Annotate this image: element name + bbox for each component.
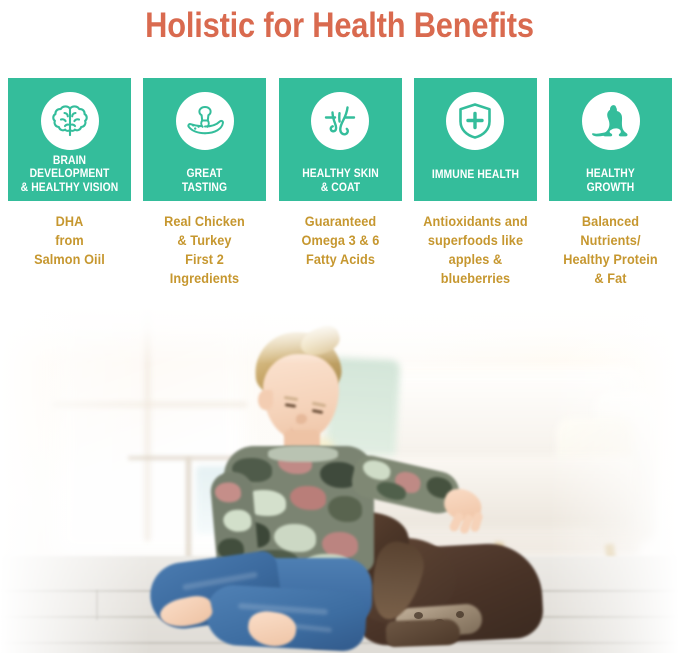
benefit-tile-label: BRAIN DEVELOPMENT & HEALTHY VISION: [14, 155, 125, 196]
icon-circle: [41, 92, 99, 150]
benefit-caption-great-tasting: Real Chicken & Turkey First 2 Ingredient…: [147, 212, 263, 288]
benefit-tile-healthy-skin-coat[interactable]: HEALTHY SKIN & COAT: [279, 78, 402, 201]
benefit-tile-healthy-growth[interactable]: HEALTHY GROWTH: [549, 78, 672, 201]
benefit-caption-brain-development: DHA from Salmon Oiil: [12, 212, 128, 288]
benefit-tile-brain-development[interactable]: BRAIN DEVELOPMENT & HEALTHY VISION: [8, 78, 131, 201]
hair-follicle-icon: [320, 101, 360, 141]
shield-plus-icon: [456, 101, 494, 141]
dog-paw-spot: [414, 612, 423, 619]
icon-circle: [582, 92, 640, 150]
brain-icon: [50, 102, 90, 140]
icon-circle: [176, 92, 234, 150]
boy-ear: [258, 390, 273, 410]
benefit-tile-label: GREAT TASTING: [149, 168, 260, 195]
benefits-row: BRAIN DEVELOPMENT & HEALTHY VISION: [8, 78, 672, 201]
benefit-tile-label: IMMUNE HEALTH: [420, 169, 531, 183]
benefit-tile-immune-health[interactable]: IMMUNE HEALTH: [414, 78, 537, 201]
benefit-caption-healthy-skin-coat: Guaranteed Omega 3 & 6 Fatty Acids: [282, 212, 398, 288]
lifestyle-photo: [0, 306, 679, 653]
dog-paw-spot: [456, 611, 464, 618]
food-bowl-icon: [184, 103, 226, 139]
icon-circle: [446, 92, 504, 150]
shirt-collar: [268, 446, 338, 462]
benefit-caption-immune-health: Antioxidants and superfoods like apples …: [417, 212, 533, 288]
photo-fade-right: [549, 306, 679, 653]
icon-circle: [311, 92, 369, 150]
photo-fade-left: [0, 306, 150, 653]
benefit-caption-healthy-growth: Balanced Nutrients/ Healthy Protein & Fa…: [553, 212, 669, 288]
captions-row: DHA from Salmon Oiil Real Chicken & Turk…: [8, 212, 672, 288]
benefit-tile-label: HEALTHY GROWTH: [555, 168, 666, 195]
sitting-dog-icon: [589, 102, 633, 140]
benefit-tile-label: HEALTHY SKIN & COAT: [285, 168, 396, 195]
dog-front-paw: [386, 619, 461, 648]
page-title: Holistic for Health Benefits: [41, 4, 639, 48]
benefit-tile-great-tasting[interactable]: GREAT TASTING: [143, 78, 266, 201]
